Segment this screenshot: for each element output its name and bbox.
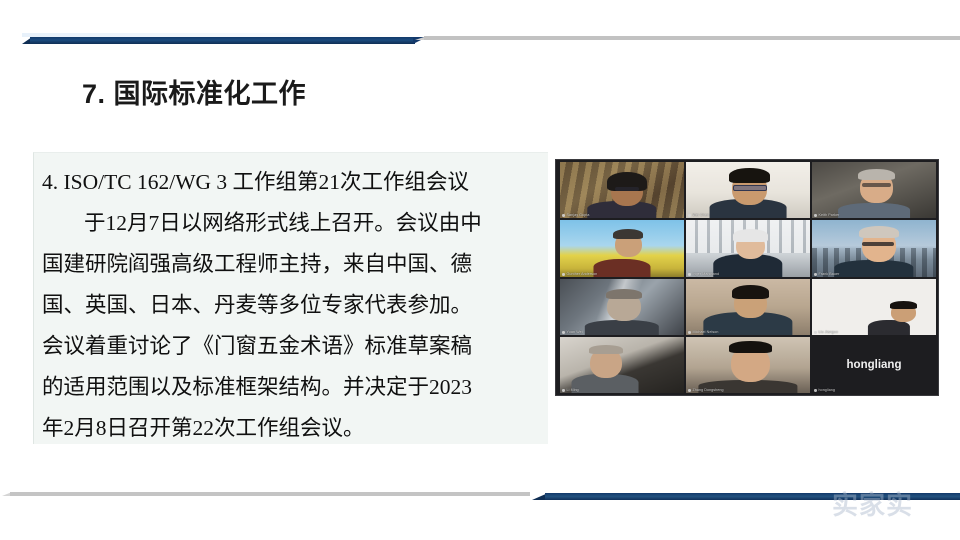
bottom-rule-gray-segment	[10, 492, 530, 496]
tile-torso	[868, 320, 910, 335]
video-tile[interactable]: Inger Marchand	[686, 220, 810, 276]
tile-glasses	[862, 242, 894, 247]
tile-name-label: Wei Chen	[688, 213, 709, 217]
tile-name-label: Li Ming	[562, 388, 579, 392]
video-tile[interactable]: Keith Parker	[812, 162, 936, 218]
tile-hair	[858, 169, 895, 180]
watermark-text: 实家实	[832, 485, 913, 522]
tile-center-name: hongliang	[812, 337, 936, 393]
tile-torso	[838, 203, 910, 219]
video-tile[interactable]: Liu Jianguo	[812, 279, 936, 335]
tile-glasses	[615, 187, 640, 190]
tile-name-label: hongliang	[814, 388, 835, 392]
video-tile[interactable]: Yuan Wei	[560, 279, 684, 335]
mic-icon	[562, 273, 565, 276]
video-tile-name-only[interactable]: hongliang hongliang	[812, 337, 936, 393]
video-tile[interactable]: Gunther Anderson	[560, 220, 684, 276]
body-line-3: 国建研院阎强高级工程师主持，来自中国、德	[42, 244, 542, 285]
body-line-2: 于12月7日以网络形式线上召开。会议由中	[42, 203, 542, 244]
video-tile[interactable]: Li Ming	[560, 337, 684, 393]
body-line-7: 年2月8日召开第22次工作组会议。	[42, 408, 542, 449]
tile-name-label: Gunther Anderson	[562, 272, 597, 276]
mic-icon	[562, 331, 565, 334]
tile-hair	[589, 345, 624, 354]
tile-name-label: Michael Nelson	[688, 330, 718, 334]
top-decorative-rule	[0, 33, 960, 49]
page-title: 7. 国际标准化工作	[82, 72, 306, 111]
body-line-4: 国、英国、日本、丹麦等多位专家代表参加。	[42, 285, 542, 326]
tile-torso	[593, 259, 650, 277]
video-tile[interactable]: Sanjay Gupta	[560, 162, 684, 218]
tile-glasses	[733, 185, 767, 192]
video-tile[interactable]: Zhang Dongsheng	[686, 337, 810, 393]
top-rule-blue-segment	[30, 37, 415, 44]
tile-torso	[585, 320, 659, 335]
tile-hair	[733, 229, 768, 241]
tile-hair	[890, 301, 917, 309]
tile-hair	[613, 229, 643, 239]
tile-name-label: Yuan Wei	[562, 330, 583, 334]
body-line-1: 4. ISO/TC 162/WG 3 工作组第21次工作组会议	[42, 162, 542, 203]
mic-icon	[562, 389, 565, 392]
presentation-slide: 7. 国际标准化工作 4. ISO/TC 162/WG 3 工作组第21次工作组…	[0, 0, 960, 540]
tile-glasses	[862, 183, 892, 187]
tile-hair	[729, 341, 771, 352]
body-text-box: 4. ISO/TC 162/WG 3 工作组第21次工作组会议 于12月7日以网…	[33, 152, 548, 444]
mic-icon	[814, 389, 817, 392]
tile-hair	[859, 226, 899, 238]
video-tile-grid: Sanjay Gupta Wei Chen Keith Parker	[560, 162, 936, 393]
video-conference-panel: Sanjay Gupta Wei Chen Keith Parker	[556, 160, 938, 395]
video-tile[interactable]: Michael Nelson	[686, 279, 810, 335]
tile-name-label: Frank Bauer	[814, 272, 839, 276]
tile-hair	[732, 285, 769, 299]
tile-name-label: Inger Marchand	[688, 272, 719, 276]
bottom-decorative-rule	[0, 489, 960, 509]
mic-icon	[688, 389, 691, 392]
tile-name-label: Zhang Dongsheng	[688, 388, 724, 392]
tile-name-label: Sanjay Gupta	[562, 213, 589, 217]
video-tile[interactable]: Wei Chen	[686, 162, 810, 218]
mic-icon	[688, 273, 691, 276]
mic-icon	[688, 214, 691, 217]
video-tile[interactable]: Frank Bauer	[812, 220, 936, 276]
top-rule-gray-segment	[424, 36, 960, 40]
body-line-6: 的适用范围以及标准框架结构。并决定于2023	[42, 367, 542, 408]
tile-name-label: Keith Parker	[814, 213, 839, 217]
mic-icon	[814, 214, 817, 217]
tile-hair	[606, 289, 642, 299]
mic-icon	[814, 273, 817, 276]
mic-icon	[688, 331, 691, 334]
body-line-5: 会议着重讨论了《门窗五金术语》标准草案稿	[42, 326, 542, 367]
tile-name-label: Liu Jianguo	[814, 330, 838, 334]
tile-hair	[729, 168, 770, 183]
mic-icon	[814, 331, 817, 334]
tile-torso	[834, 260, 913, 277]
mic-icon	[562, 214, 565, 217]
